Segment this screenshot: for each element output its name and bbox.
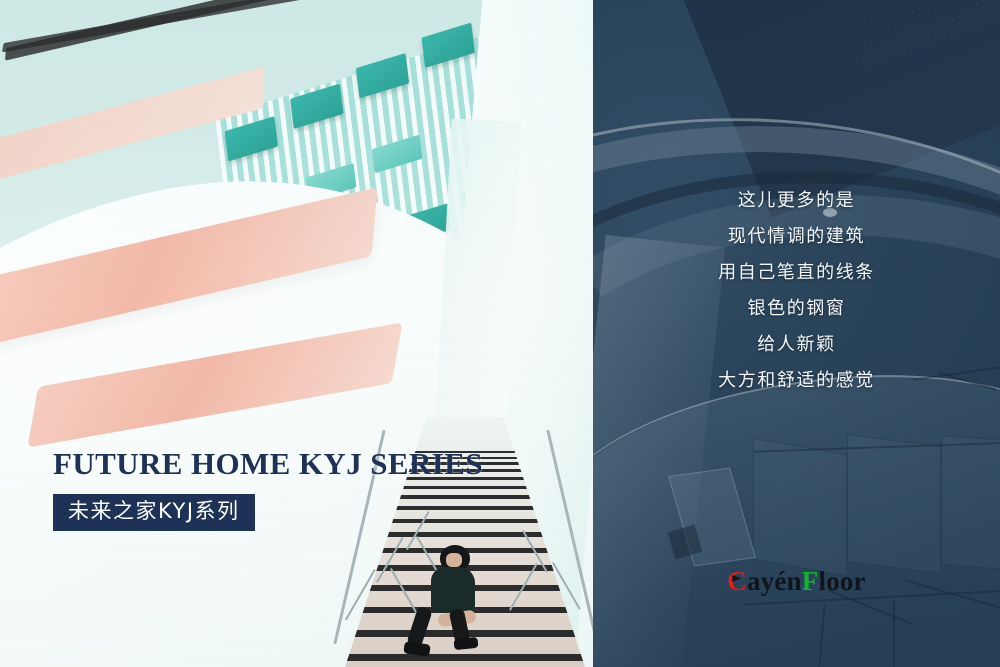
- headline-chinese-badge: 未来之家KYJ系列: [53, 494, 255, 531]
- copy-line-3: 用自己笔直的线条: [593, 264, 1000, 282]
- right-image-panel: 这儿更多的是 现代情调的建筑 用自己笔直的线条 银色的钢窗 给人新颖 大方和舒适…: [593, 0, 1000, 667]
- copy-line-4: 银色的钢窗: [593, 300, 1000, 318]
- left-photo-tint: [0, 0, 593, 667]
- copy-line-2: 现代情调的建筑: [593, 228, 1000, 246]
- headline-chinese: 未来之家KYJ系列: [68, 501, 240, 522]
- copy-line-6: 大方和舒适的感觉: [593, 372, 1000, 390]
- brand-logo[interactable]: CayénFloor: [593, 566, 1000, 597]
- logo-letter-c: C: [727, 566, 747, 597]
- logo-letter-f: F: [802, 566, 819, 596]
- copy-line-5: 给人新颖: [593, 336, 1000, 354]
- headline-english: FUTURE HOME KYJ SERIES: [53, 448, 483, 479]
- left-image-panel: FUTURE HOME KYJ SERIES 未来之家KYJ系列: [0, 0, 593, 667]
- promo-banner: FUTURE HOME KYJ SERIES 未来之家KYJ系列: [0, 0, 1000, 667]
- left-text-block: FUTURE HOME KYJ SERIES 未来之家KYJ系列: [53, 448, 483, 531]
- copy-line-1: 这儿更多的是: [593, 192, 1000, 210]
- left-architecture-photo: [0, 0, 593, 667]
- logo-text-loor: loor: [818, 566, 865, 596]
- logo-text-ayen: ayén: [747, 566, 802, 596]
- right-copy-block: 这儿更多的是 现代情调的建筑 用自己笔直的线条 银色的钢窗 给人新颖 大方和舒适…: [593, 192, 1000, 390]
